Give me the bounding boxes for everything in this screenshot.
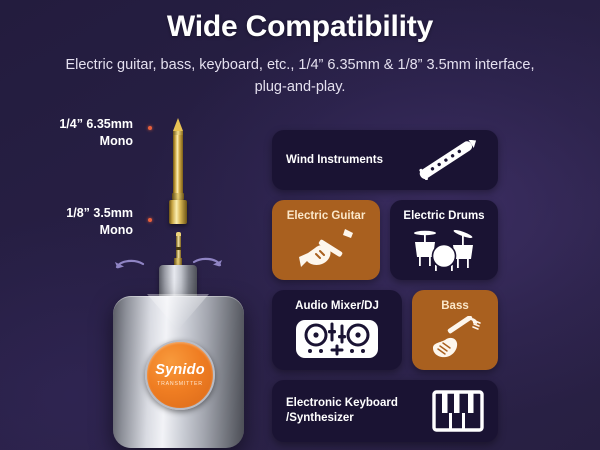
product-feature-banner: Wide Compatibility Electric guitar, bass…: [0, 0, 600, 450]
plug-shaft: [173, 135, 183, 193]
brand-sublabel: TRANSMITTER: [157, 381, 203, 388]
card-label: Electric Drums: [403, 209, 484, 223]
drum-kit-icon: [407, 226, 481, 274]
card-electric-drums[interactable]: Electric Drums: [390, 200, 498, 280]
product-illustration: 1/4” 6.35mm Mono 1/8” 3.5mm Mono: [0, 110, 262, 450]
card-row: Wind Instruments: [272, 130, 588, 190]
card-label: Wind Instruments: [286, 153, 383, 167]
brand-name: Synido: [155, 362, 205, 378]
card-row: Audio Mixer/DJ: [272, 290, 588, 370]
card-electric-guitar[interactable]: Electric Guitar: [272, 200, 380, 280]
header: Wide Compatibility Electric guitar, bass…: [0, 8, 600, 98]
transmitter-device: Synido TRANSMITTER: [113, 296, 244, 448]
flute-icon: [410, 140, 484, 180]
pin-gap: [176, 247, 181, 250]
card-row: Electric Guitar Electric Drums: [272, 200, 588, 280]
card-audio-mixer-dj[interactable]: Audio Mixer/DJ: [272, 290, 402, 370]
label-eighth-inch-mono: Mono: [0, 222, 133, 239]
label-quarter-inch-mono: Mono: [0, 133, 133, 150]
marker-dot-icon: [148, 218, 152, 222]
label-quarter-inch-size: 1/4” 6.35mm: [0, 116, 133, 133]
plug-tip: [173, 118, 183, 131]
card-bass[interactable]: Bass: [412, 290, 498, 370]
label-eighth-inch: 1/8” 3.5mm Mono: [0, 205, 133, 239]
plug-collar: [169, 200, 187, 224]
card-label-line2: /Synthesizer: [286, 412, 354, 424]
card-label: Bass: [441, 299, 469, 313]
card-label-line1: Electronic Keyboard: [286, 397, 398, 409]
card-label: Electric Guitar: [287, 209, 366, 223]
marker-dot-icon: [148, 126, 152, 130]
card-row: Electronic Keyboard /Synthesizer: [272, 380, 588, 442]
card-label: Electronic Keyboard /Synthesizer: [286, 396, 398, 426]
compatibility-card-grid: Wind Instruments: [272, 130, 588, 450]
electric-guitar-icon: [295, 226, 357, 274]
quarter-inch-plug-icon: [167, 118, 189, 230]
page-title: Wide Compatibility: [0, 8, 600, 46]
plug-band: [172, 193, 184, 200]
label-eighth-inch-size: 1/8” 3.5mm: [0, 205, 133, 222]
card-wind-instruments[interactable]: Wind Instruments: [272, 130, 498, 190]
label-quarter-inch: 1/4” 6.35mm Mono: [0, 116, 133, 150]
piano-keys-icon: [432, 389, 484, 433]
device-highlight: [147, 294, 209, 330]
rotate-left-arrow-icon: [113, 258, 147, 280]
card-label: Audio Mixer/DJ: [295, 299, 379, 313]
brand-badge: Synido TRANSMITTER: [145, 340, 215, 410]
page-subtitle: Electric guitar, bass, keyboard, etc., 1…: [0, 54, 600, 98]
card-electronic-keyboard[interactable]: Electronic Keyboard /Synthesizer: [272, 380, 498, 442]
dj-mixer-icon: [294, 316, 380, 362]
bass-guitar-icon: [423, 316, 487, 364]
